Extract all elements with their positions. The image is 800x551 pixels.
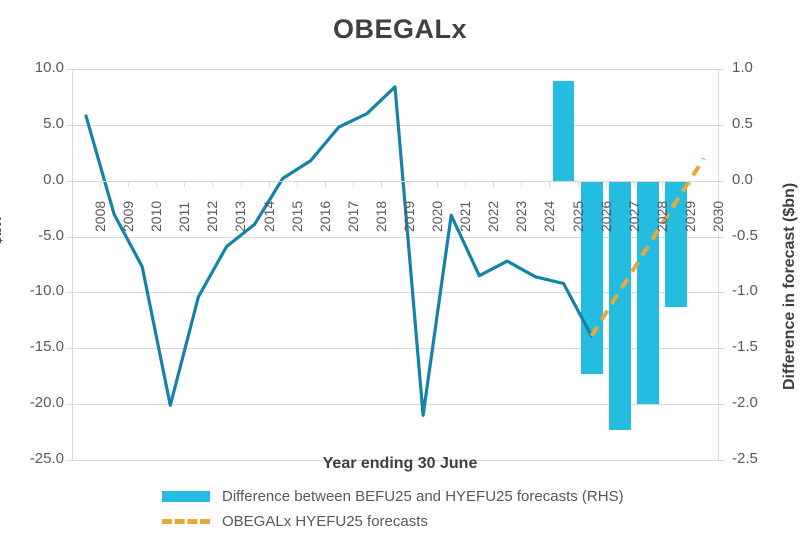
left-axis-tickmark xyxy=(66,292,72,293)
right-axis-line xyxy=(718,69,719,460)
x-axis-tickmark xyxy=(606,181,607,187)
x-axis-tickmark xyxy=(465,181,466,187)
x-axis-tickmark xyxy=(128,181,129,187)
x-axis-tickmark xyxy=(409,181,410,187)
x-axis-label-2008: 2008 xyxy=(92,201,108,232)
right-axis-tickmark xyxy=(718,292,724,293)
left-axis-tick-label: 5.0 xyxy=(6,115,64,132)
left-axis-tick-label: -20.0 xyxy=(6,394,64,411)
right-axis-tickmark xyxy=(718,69,724,70)
legend-dashed-line-swatch-icon xyxy=(162,519,210,524)
x-axis-tickmark xyxy=(634,181,635,187)
x-axis-tickmark xyxy=(549,181,550,187)
left-axis-tickmark xyxy=(66,125,72,126)
x-axis-label-2027: 2027 xyxy=(626,201,642,232)
x-axis-label-2019: 2019 xyxy=(401,201,417,232)
x-axis-label-2016: 2016 xyxy=(317,201,333,232)
x-axis-label-2010: 2010 xyxy=(148,201,164,232)
legend-item-label: OBEGALx HYEFU25 forecasts xyxy=(222,513,428,530)
right-axis-tickmark xyxy=(718,348,724,349)
bar-2029 xyxy=(665,181,687,307)
right-axis-tick-label: 1.0 xyxy=(732,59,790,76)
x-axis-tickmark xyxy=(156,181,157,187)
left-axis-tickmark xyxy=(66,404,72,405)
x-axis-tickmark xyxy=(381,181,382,187)
x-axis-tickmark xyxy=(718,181,719,187)
left-axis-line xyxy=(72,69,73,460)
x-axis-title: Year ending 30 June xyxy=(0,455,800,473)
x-axis-tickmark xyxy=(297,181,298,187)
x-axis-label-2009: 2009 xyxy=(120,201,136,232)
zero-baseline xyxy=(72,181,718,182)
chart-root: OBEGALx 10.05.00.0-5.0-10.0-15.0-20.0-25… xyxy=(0,0,800,551)
left-axis-tick-label: 10.0 xyxy=(6,59,64,76)
legend-item-label: Difference between BEFU25 and HYEFU25 fo… xyxy=(222,488,624,505)
left-axis-tick-label: -15.0 xyxy=(6,338,64,355)
bar-2025 xyxy=(553,81,575,180)
x-axis-label-2011: 2011 xyxy=(176,202,192,232)
chart-legend: Difference between BEFU25 and HYEFU25 fo… xyxy=(0,484,800,534)
chart-title: OBEGALx xyxy=(0,14,800,45)
right-axis-tickmark xyxy=(718,404,724,405)
x-axis-label-2025: 2025 xyxy=(570,201,586,232)
gridline xyxy=(72,125,718,126)
x-axis-tickmark xyxy=(437,181,438,187)
x-axis-tickmark xyxy=(184,181,185,187)
obegalx-actual-line xyxy=(86,87,592,415)
legend-item-forecast[interactable]: OBEGALx HYEFU25 forecasts xyxy=(162,509,800,534)
left-axis-tickmark xyxy=(66,237,72,238)
x-axis-label-2021: 2021 xyxy=(457,201,473,232)
legend-item-bars[interactable]: Difference between BEFU25 and HYEFU25 fo… xyxy=(162,484,800,509)
x-axis-label-2020: 2020 xyxy=(429,201,445,232)
left-axis-title: $bn xyxy=(0,217,6,245)
x-axis-label-2013: 2013 xyxy=(232,201,248,232)
right-axis-tick-label: 0.5 xyxy=(732,115,790,132)
x-axis-label-2024: 2024 xyxy=(541,201,557,232)
x-axis-tickmark xyxy=(521,181,522,187)
x-axis-label-2015: 2015 xyxy=(289,201,305,232)
x-axis-label-2028: 2028 xyxy=(654,201,670,232)
x-axis-label-2026: 2026 xyxy=(598,201,614,232)
x-axis-tickmark xyxy=(100,181,101,187)
x-axis-tickmark xyxy=(493,181,494,187)
x-axis-tickmark xyxy=(353,181,354,187)
x-axis-label-2022: 2022 xyxy=(485,201,501,232)
x-axis-label-2014: 2014 xyxy=(261,201,277,232)
right-axis-tickmark xyxy=(718,125,724,126)
x-axis-tickmark xyxy=(241,181,242,187)
legend-bar-swatch-icon xyxy=(162,491,210,502)
x-axis-tickmark xyxy=(72,181,73,187)
x-axis-label-2029: 2029 xyxy=(682,201,698,232)
gridline xyxy=(72,69,718,70)
x-axis-tickmark xyxy=(662,181,663,187)
x-axis-label-2012: 2012 xyxy=(204,201,220,232)
x-axis-tickmark xyxy=(212,181,213,187)
x-axis-label-2023: 2023 xyxy=(513,201,529,232)
x-axis-tickmark xyxy=(690,181,691,187)
left-axis-tick-label: -10.0 xyxy=(6,282,64,299)
right-axis-title: Difference in forecast ($bn) xyxy=(781,183,799,390)
right-axis-tickmark xyxy=(718,237,724,238)
left-axis-tickmark xyxy=(66,348,72,349)
x-axis-tickmark xyxy=(325,181,326,187)
x-axis-label-2017: 2017 xyxy=(345,201,361,232)
x-axis-label-2018: 2018 xyxy=(373,201,389,232)
x-axis-tickmark xyxy=(578,181,579,187)
right-axis-tick-label: -2.0 xyxy=(732,394,790,411)
left-axis-tick-label: 0.0 xyxy=(6,171,64,188)
left-axis-tickmark xyxy=(66,69,72,70)
x-axis-label-2030: 2030 xyxy=(710,201,726,232)
x-axis-tickmark xyxy=(269,181,270,187)
left-axis-tick-label: -5.0 xyxy=(6,227,64,244)
